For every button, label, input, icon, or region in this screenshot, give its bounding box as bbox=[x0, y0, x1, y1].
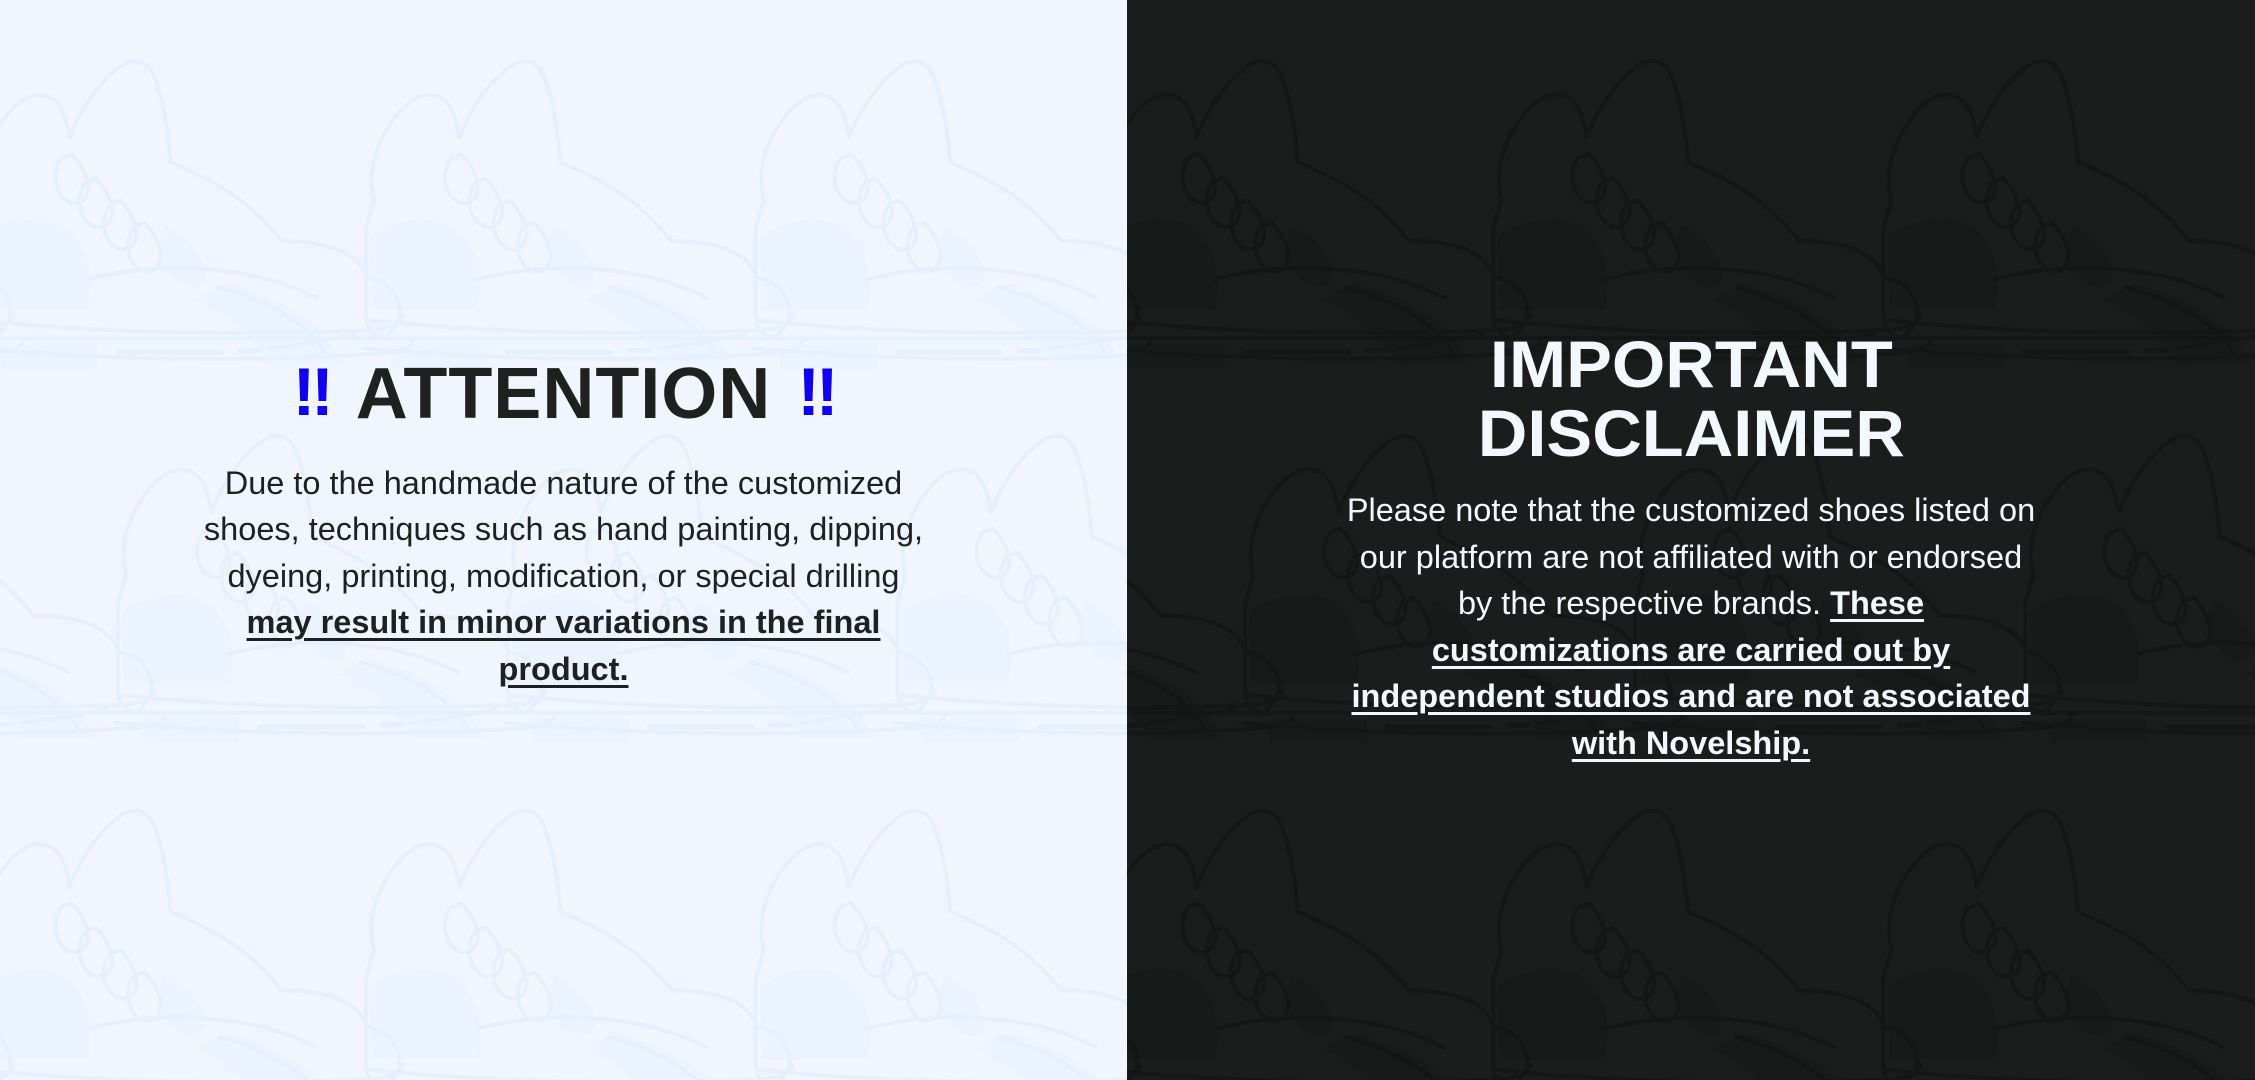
disclaimer-heading: IMPORTANT DISCLAIMER bbox=[1477, 330, 1904, 467]
attention-heading-text: ATTENTION bbox=[356, 358, 772, 430]
disclaimer-body: Please note that the customized shoes li… bbox=[1341, 487, 2041, 766]
disclaimer-body-normal: Please note that the customized shoes li… bbox=[1347, 492, 2035, 621]
disclaimer-panel: IMPORTANT DISCLAIMER Please note that th… bbox=[1127, 0, 2255, 1080]
attention-panel: ‼ ATTENTION ‼ Due to the handmade nature… bbox=[0, 0, 1127, 1080]
disclaimer-content: IMPORTANT DISCLAIMER Please note that th… bbox=[1127, 0, 2255, 766]
attention-body-normal: Due to the handmade nature of the custom… bbox=[204, 465, 923, 594]
double-exclamation-icon-right: ‼ bbox=[797, 358, 834, 426]
attention-heading: ‼ ATTENTION ‼ bbox=[293, 358, 835, 430]
attention-body: Due to the handmade nature of the custom… bbox=[204, 460, 924, 692]
attention-body-emphasis: may result in minor variations in the fi… bbox=[247, 604, 881, 686]
disclaimer-banner: ‼ ATTENTION ‼ Due to the handmade nature… bbox=[0, 0, 2255, 1080]
double-exclamation-icon-left: ‼ bbox=[293, 358, 330, 426]
attention-content: ‼ ATTENTION ‼ Due to the handmade nature… bbox=[0, 0, 1127, 692]
disclaimer-heading-line2: DISCLAIMER bbox=[1477, 396, 1904, 470]
disclaimer-heading-line1: IMPORTANT bbox=[1490, 327, 1893, 401]
